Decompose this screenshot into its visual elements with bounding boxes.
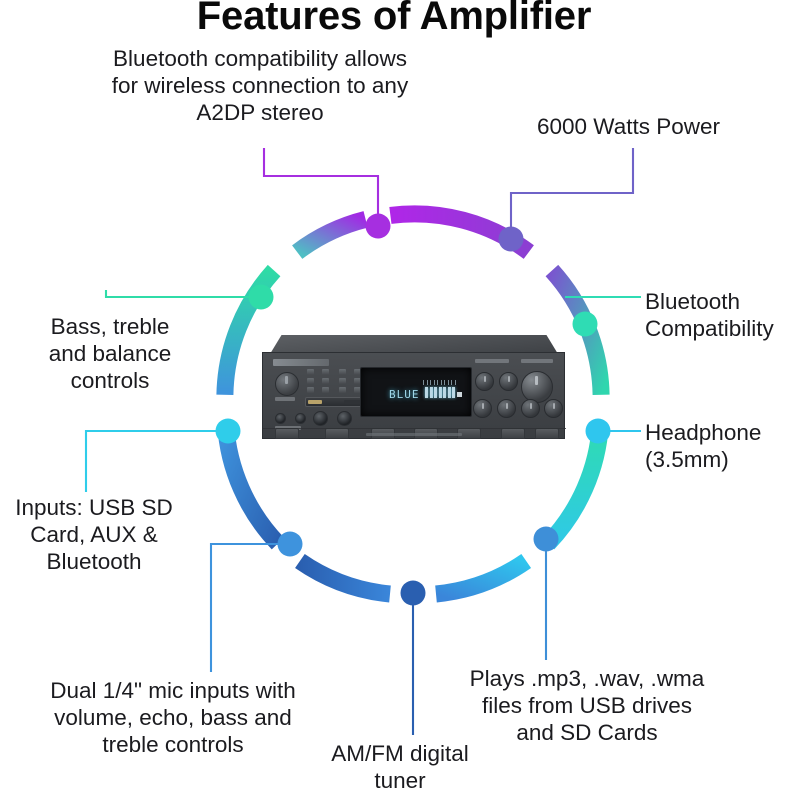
button-pad[interactable]	[307, 369, 363, 393]
master-volume-knob[interactable]	[521, 371, 553, 403]
dot-bluetooth-a2dp	[366, 214, 391, 239]
label-bluetooth-compatibility: Bluetooth Compatibility	[645, 288, 788, 342]
leader-lines	[86, 148, 641, 735]
front-button-7[interactable]	[535, 428, 559, 439]
display-segment-bars	[425, 387, 455, 398]
knob-balance[interactable]	[521, 399, 540, 418]
label-power-rating: 6000 Watts Power	[537, 113, 788, 140]
stereo-amplifier: BLUE	[262, 335, 565, 439]
arc-segment-4	[436, 561, 526, 594]
label-bass-treble-balance: Bass, treble and balance controls	[10, 313, 210, 394]
leader-line-power-rating	[511, 148, 633, 239]
mic-jack-1[interactable]	[275, 413, 286, 424]
front-button-2[interactable]	[325, 428, 349, 439]
knob-bass[interactable]	[473, 399, 492, 418]
knob-treble[interactable]	[497, 399, 516, 418]
label-mic-inputs: Dual 1/4" mic inputs with volume, echo, …	[8, 677, 338, 758]
knob-input[interactable]	[475, 372, 494, 391]
dot-inputs	[216, 419, 241, 444]
dot-mic-inputs	[278, 532, 303, 557]
dot-power-rating	[499, 227, 524, 252]
dot-bass-treble	[249, 285, 274, 310]
leader-line-mic-inputs	[211, 544, 290, 672]
headphone-jack-3-5mm[interactable]	[337, 411, 352, 426]
aux-jack[interactable]	[313, 411, 328, 426]
power-knob[interactable]	[275, 372, 299, 396]
label-media-playback: Plays .mp3, .wav, .wma files from USB dr…	[437, 665, 737, 746]
dot-headphone	[586, 419, 611, 444]
display-tick-row	[423, 380, 456, 385]
display-indicator-dot	[457, 392, 462, 397]
brand-logo	[273, 359, 329, 366]
right-panel-label-1	[475, 359, 509, 363]
label-inputs-usb-sd-aux: Inputs: USB SD Card, AUX & Bluetooth	[0, 494, 194, 575]
dot-bluetooth-compat	[573, 312, 598, 337]
front-button-6[interactable]	[501, 428, 525, 439]
arc-segment-8	[297, 219, 365, 252]
model-text	[366, 433, 462, 436]
knob-mic-volume[interactable]	[544, 399, 563, 418]
panel-divider	[263, 428, 566, 429]
label-headphone-jack: Headphone (3.5mm)	[645, 419, 788, 473]
label-bluetooth-a2dp: Bluetooth compatibility allows for wirel…	[70, 45, 450, 126]
display-text: BLUE	[389, 388, 420, 401]
vfd-display: BLUE	[360, 367, 472, 417]
right-panel-label-2	[521, 359, 553, 363]
arc-segment-5	[300, 561, 390, 594]
mic-jack-2[interactable]	[295, 413, 306, 424]
knob-echo[interactable]	[499, 372, 518, 391]
leader-line-bass-treble	[106, 290, 261, 297]
label-am-fm-tuner: AM/FM digital tuner	[310, 740, 490, 794]
front-button-1[interactable]	[275, 428, 299, 439]
leader-line-inputs	[86, 431, 228, 492]
amplifier-front-panel: BLUE	[262, 352, 565, 439]
dot-am-fm	[401, 581, 426, 606]
dot-media-playback	[534, 527, 559, 552]
power-label	[275, 397, 295, 401]
